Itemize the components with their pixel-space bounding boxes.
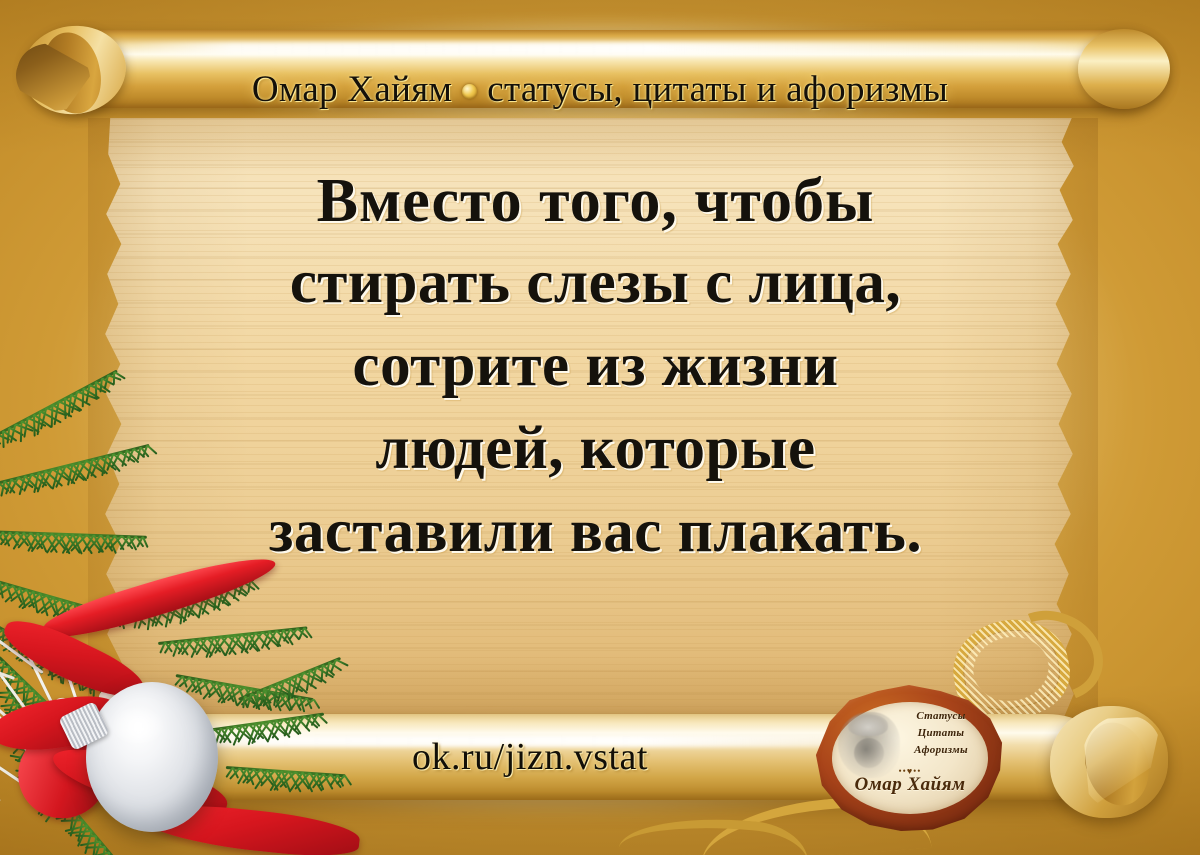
christmas-ball-highlight: [114, 708, 162, 744]
christmas-decoration: [0, 430, 330, 855]
flower-dot-icon: o: [462, 84, 477, 99]
seal-line-2: Цитаты: [902, 725, 980, 742]
wax-seal: Статусы Цитаты Афоризмы ••♥•• Омар Хайям: [810, 682, 1008, 834]
quote-line-2: стирать слезы с лица,: [108, 252, 1083, 313]
quote-line-1: Вместо того, чтобы: [108, 170, 1083, 232]
seal-text-lines: Статусы Цитаты Афоризмы: [902, 708, 980, 759]
seal-line-1: Статусы: [902, 708, 980, 725]
christmas-ball-icon: [86, 682, 218, 832]
seal-author-name: Омар Хайям: [830, 774, 990, 796]
seal-line-3: Афоризмы: [902, 742, 980, 759]
source-url[interactable]: ok.ru/jizn.vstat: [300, 735, 760, 779]
top-roll-highlight: [90, 42, 1110, 55]
quote-line-3: сотрите из жизни: [108, 335, 1083, 396]
quote-card: Омар Хайямoстатусы, цитаты и афоризмы Вм…: [0, 0, 1200, 855]
